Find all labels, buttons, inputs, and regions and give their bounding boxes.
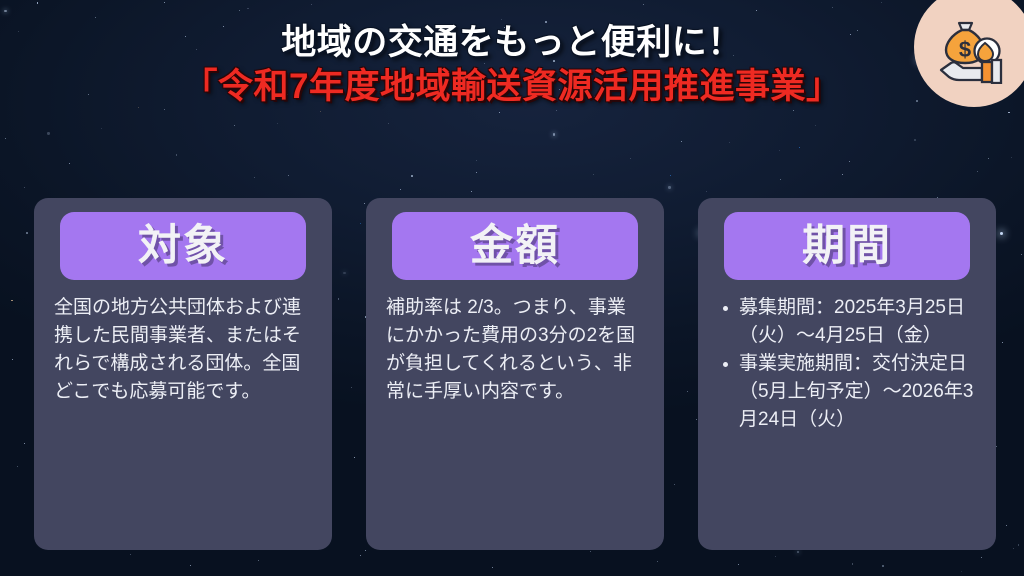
card-heading-pill-period: 期間 — [724, 212, 970, 280]
svg-text:$: $ — [959, 37, 971, 62]
card-heading-label: 金額 — [470, 225, 560, 268]
title-line-secondary: 「令和7年度地域輸送資源活用推進事業」 — [0, 66, 1024, 109]
info-card-row: 対象全国の地方公共団体および連携した民間事業者、またはそれらで構成される団体。全… — [34, 198, 996, 550]
card-paragraph: 補助率は 2/3。つまり、事業にかかった費用の3分の2を国が負担してくれるという… — [386, 294, 644, 406]
card-heading-label: 対象 — [138, 225, 228, 268]
list-item: 募集期間：2025年3月25日（火）〜4月25日（金） — [718, 294, 976, 350]
list-item: 事業実施期間：交付決定日（5月上旬予定）〜2026年3月24日（火） — [718, 350, 976, 434]
info-card-amount: 金額補助率は 2/3。つまり、事業にかかった費用の3分の2を国が負担してくれると… — [366, 198, 664, 550]
card-heading-pill-amount: 金額 — [392, 212, 638, 280]
slide-canvas: 地域の交通をもっと便利に！ 「令和7年度地域輸送資源活用推進事業」 $ 対象全国… — [0, 0, 1024, 576]
card-heading-label: 期間 — [802, 225, 892, 268]
info-card-period: 期間募集期間：2025年3月25日（火）〜4月25日（金）事業実施期間：交付決定… — [698, 198, 996, 550]
card-paragraph: 全国の地方公共団体および連携した民間事業者、またはそれらで構成される団体。全国ど… — [54, 294, 312, 406]
card-body-target: 全国の地方公共団体および連携した民間事業者、またはそれらで構成される団体。全国ど… — [52, 294, 314, 406]
card-body-period: 募集期間：2025年3月25日（火）〜4月25日（金）事業実施期間：交付決定日（… — [716, 294, 978, 434]
card-heading-pill-target: 対象 — [60, 212, 306, 280]
slide-title: 地域の交通をもっと便利に！ 「令和7年度地域輸送資源活用推進事業」 — [0, 22, 1024, 108]
title-line-primary: 地域の交通をもっと便利に！ — [0, 22, 1024, 65]
card-body-amount: 補助率は 2/3。つまり、事業にかかった費用の3分の2を国が負担してくれるという… — [384, 294, 646, 406]
info-card-target: 対象全国の地方公共団体および連携した民間事業者、またはそれらで構成される団体。全… — [34, 198, 332, 550]
card-bullet-list: 募集期間：2025年3月25日（火）〜4月25日（金）事業実施期間：交付決定日（… — [718, 294, 976, 434]
money-bag-on-hand-icon: $ — [935, 18, 1009, 84]
